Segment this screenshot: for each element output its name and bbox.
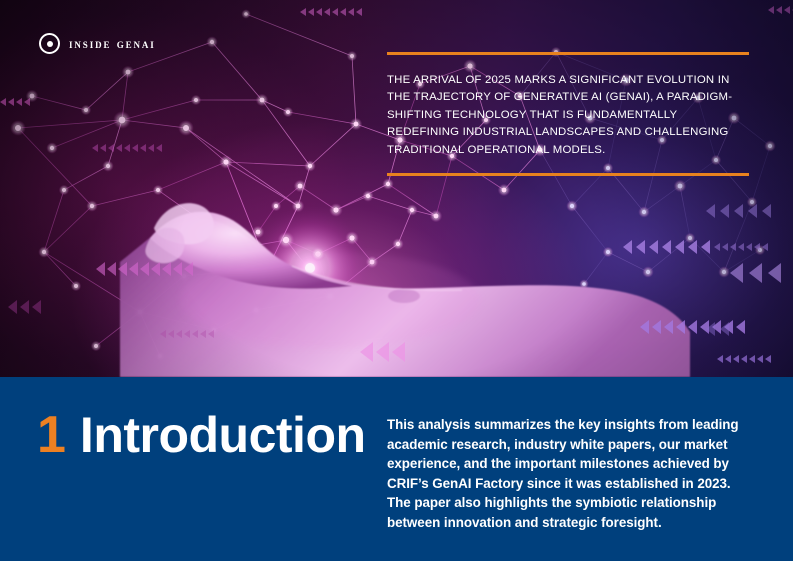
chevron-left-triangle-icon xyxy=(730,263,743,283)
mesh-node xyxy=(30,94,35,99)
chevron-left-triangle-icon xyxy=(168,330,174,338)
mesh-node xyxy=(502,188,507,193)
mesh-node xyxy=(283,237,289,243)
mesh-node xyxy=(296,204,301,209)
chevron-row xyxy=(706,322,729,336)
mesh-node xyxy=(183,125,189,131)
mesh-node xyxy=(582,282,586,286)
chevron-left-triangle-icon xyxy=(20,300,29,314)
chevron-left-triangle-icon xyxy=(118,262,127,276)
chevron-left-triangle-icon xyxy=(200,330,206,338)
section-title: Introduction xyxy=(80,410,366,460)
chevron-left-triangle-icon xyxy=(706,204,715,218)
mesh-node xyxy=(42,250,46,254)
mesh-node xyxy=(678,184,683,189)
chevron-row xyxy=(768,6,793,14)
chevron-left-triangle-icon xyxy=(392,342,405,362)
chevron-row xyxy=(300,8,362,16)
chevron-left-triangle-icon xyxy=(720,322,729,336)
chevron-left-triangle-icon xyxy=(717,355,723,363)
chevron-row xyxy=(730,263,781,283)
chevron-left-triangle-icon xyxy=(733,355,739,363)
chevron-left-triangle-icon xyxy=(722,243,728,251)
mesh-node xyxy=(90,204,94,208)
hero-body-text: THE ARRIVAL OF 2025 MARKS A SIGNIFICANT … xyxy=(387,72,749,159)
chevron-left-triangle-icon xyxy=(140,262,149,276)
chevron-left-triangle-icon xyxy=(100,144,106,152)
chevron-left-triangle-icon xyxy=(140,144,146,152)
chevron-left-triangle-icon xyxy=(208,330,214,338)
mesh-node xyxy=(434,214,439,219)
chevron-left-triangle-icon xyxy=(92,144,98,152)
section-copy-block: This analysis summarizes the key insight… xyxy=(387,415,749,533)
chevron-left-triangle-icon xyxy=(776,6,782,14)
mesh-node xyxy=(349,235,354,240)
chevron-left-triangle-icon xyxy=(676,320,685,334)
chevron-left-triangle-icon xyxy=(757,355,763,363)
chevron-left-triangle-icon xyxy=(706,322,715,336)
chevron-left-triangle-icon xyxy=(754,243,760,251)
mesh-node xyxy=(210,40,214,44)
chevron-left-triangle-icon xyxy=(308,8,314,16)
chevron-left-triangle-icon xyxy=(24,98,30,106)
hero-rule-bottom xyxy=(387,173,749,176)
mesh-node xyxy=(570,204,574,208)
introduction-section: 1 Introduction This analysis summarizes … xyxy=(0,377,793,561)
brand-logo-text: Inside GenAI xyxy=(69,36,156,52)
hero-rule-top xyxy=(387,52,749,55)
chevron-left-triangle-icon xyxy=(116,144,122,152)
chevron-left-triangle-icon xyxy=(356,8,362,16)
chevron-left-triangle-icon xyxy=(738,243,744,251)
chevron-left-triangle-icon xyxy=(640,320,649,334)
chevron-left-triangle-icon xyxy=(107,262,116,276)
chevron-left-triangle-icon xyxy=(316,8,322,16)
chevron-left-triangle-icon xyxy=(623,240,632,254)
mesh-node xyxy=(366,194,370,198)
chevron-left-triangle-icon xyxy=(652,320,661,334)
chevron-left-triangle-icon xyxy=(701,240,710,254)
chevron-left-triangle-icon xyxy=(129,262,138,276)
chevron-left-triangle-icon xyxy=(360,342,373,362)
chevron-row xyxy=(623,240,710,254)
chevron-left-triangle-icon xyxy=(8,98,14,106)
mesh-node xyxy=(642,210,646,214)
mesh-node xyxy=(256,230,261,235)
chevron-left-triangle-icon xyxy=(332,8,338,16)
chevron-left-triangle-icon xyxy=(148,144,154,152)
brand-logo[interactable]: Inside GenAI xyxy=(39,33,156,54)
chevron-left-triangle-icon xyxy=(348,8,354,16)
chevron-left-triangle-icon xyxy=(173,262,182,276)
chevron-left-triangle-icon xyxy=(96,262,105,276)
chevron-left-triangle-icon xyxy=(649,240,658,254)
chevron-left-triangle-icon xyxy=(324,8,330,16)
chevron-left-triangle-icon xyxy=(730,243,736,251)
chevron-left-triangle-icon xyxy=(736,320,745,334)
chevron-left-triangle-icon xyxy=(762,243,768,251)
mesh-node xyxy=(333,207,338,212)
chevron-left-triangle-icon xyxy=(768,263,781,283)
hero-banner: Inside GenAI THE ARRIVAL OF 2025 MARKS A… xyxy=(0,0,793,377)
mesh-node xyxy=(350,54,354,58)
chevron-left-triangle-icon xyxy=(746,243,752,251)
chevron-left-triangle-icon xyxy=(376,342,389,362)
chevron-left-triangle-icon xyxy=(784,6,790,14)
mesh-node xyxy=(298,184,303,189)
section-heading: 1 Introduction xyxy=(37,409,366,461)
chevron-left-triangle-icon xyxy=(762,204,771,218)
chevron-left-triangle-icon xyxy=(184,330,190,338)
mesh-node xyxy=(244,12,248,16)
chevron-left-triangle-icon xyxy=(749,355,755,363)
chevron-left-triangle-icon xyxy=(720,204,729,218)
chevron-row xyxy=(92,144,162,152)
chevron-left-triangle-icon xyxy=(124,144,130,152)
chevron-left-triangle-icon xyxy=(664,320,673,334)
chevron-left-triangle-icon xyxy=(160,330,166,338)
chevron-left-triangle-icon xyxy=(734,204,743,218)
chevron-left-triangle-icon xyxy=(748,204,757,218)
chevron-row xyxy=(640,320,745,334)
chevron-left-triangle-icon xyxy=(662,240,671,254)
chevron-left-triangle-icon xyxy=(184,262,193,276)
mesh-node xyxy=(396,242,400,246)
chevron-left-triangle-icon xyxy=(741,355,747,363)
mesh-node xyxy=(74,284,78,288)
chevron-row xyxy=(8,300,41,314)
mesh-node xyxy=(260,98,265,103)
mesh-node xyxy=(286,110,290,114)
chevron-row xyxy=(160,330,214,338)
mesh-node xyxy=(106,164,110,168)
chevron-left-triangle-icon xyxy=(636,240,645,254)
section-body-text: This analysis summarizes the key insight… xyxy=(387,415,749,533)
mesh-node xyxy=(606,250,610,254)
chevron-left-triangle-icon xyxy=(688,320,697,334)
chevron-left-triangle-icon xyxy=(132,144,138,152)
mesh-node xyxy=(156,188,160,192)
chevron-left-triangle-icon xyxy=(340,8,346,16)
chevron-left-triangle-icon xyxy=(768,6,774,14)
chevron-left-triangle-icon xyxy=(8,300,17,314)
mesh-node xyxy=(354,122,359,127)
section-number: 1 xyxy=(37,409,66,461)
chevron-row xyxy=(706,204,771,218)
mesh-node xyxy=(15,125,21,131)
mesh-node xyxy=(94,344,98,348)
mesh-node xyxy=(386,182,390,186)
mesh-node xyxy=(119,117,126,124)
chevron-left-triangle-icon xyxy=(749,263,762,283)
mesh-node xyxy=(50,146,54,150)
chevron-left-triangle-icon xyxy=(151,262,160,276)
mesh-node xyxy=(410,208,414,212)
mesh-node xyxy=(646,270,650,274)
chevron-left-triangle-icon xyxy=(0,98,6,106)
chevron-row xyxy=(0,98,30,106)
chevron-row xyxy=(360,342,405,362)
mesh-node xyxy=(126,70,131,75)
chevron-left-triangle-icon xyxy=(32,300,41,314)
chevron-left-triangle-icon xyxy=(108,144,114,152)
chevron-left-triangle-icon xyxy=(765,355,771,363)
chevron-left-triangle-icon xyxy=(714,243,720,251)
hero-copy-block: THE ARRIVAL OF 2025 MARKS A SIGNIFICANT … xyxy=(387,52,749,176)
chevron-left-triangle-icon xyxy=(16,98,22,106)
mesh-node xyxy=(223,159,228,164)
mesh-node xyxy=(62,188,66,192)
chevron-left-triangle-icon xyxy=(688,240,697,254)
chevron-row xyxy=(717,355,771,363)
chevron-left-triangle-icon xyxy=(300,8,306,16)
mesh-node xyxy=(768,144,772,148)
mesh-node xyxy=(308,164,312,168)
mesh-node xyxy=(84,108,88,112)
chevron-left-triangle-icon xyxy=(176,330,182,338)
poster-page: Inside GenAI THE ARRIVAL OF 2025 MARKS A… xyxy=(0,0,793,561)
chevron-row xyxy=(714,243,768,251)
chevron-left-triangle-icon xyxy=(192,330,198,338)
mesh-node xyxy=(194,98,198,102)
chevron-left-triangle-icon xyxy=(675,240,684,254)
mesh-node xyxy=(722,270,726,274)
chevron-row xyxy=(96,262,193,276)
chevron-left-triangle-icon xyxy=(725,355,731,363)
mesh-node xyxy=(274,204,278,208)
chevron-left-triangle-icon xyxy=(156,144,162,152)
chevron-left-triangle-icon xyxy=(162,262,171,276)
aperture-circle-dot-icon xyxy=(39,33,60,54)
